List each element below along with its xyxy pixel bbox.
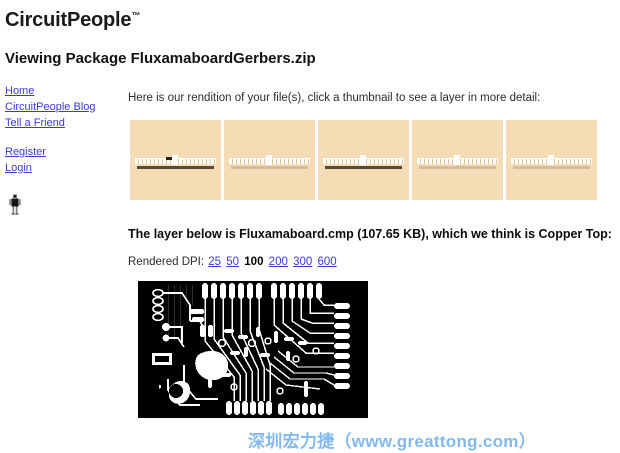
thumbnail-notch (172, 155, 178, 165)
sidebar-item-blog[interactable]: CircuitPeople Blog (5, 100, 120, 115)
dpi-option-200[interactable]: 200 (269, 256, 288, 268)
sidebar-item-tell-a-friend[interactable]: Tell a Friend (5, 116, 120, 131)
thumbnail-underlay (231, 166, 307, 169)
dpi-option-300[interactable]: 300 (293, 256, 312, 268)
page-title: Viewing Package FluxamaboardGerbers.zip (5, 50, 316, 67)
sidebar-item-login[interactable]: Login (5, 161, 120, 176)
thumbnail-notch (266, 155, 272, 165)
person-figure-icon (8, 194, 22, 216)
thumbnail-notch (548, 155, 554, 165)
brand-name: CircuitPeople (5, 9, 131, 31)
sidebar-item-home[interactable]: Home (5, 84, 120, 99)
layer-caption: The layer below is Fluxamaboard.cmp (107… (128, 227, 612, 241)
thumbnail-underlay (419, 166, 495, 169)
layer-thumbnail-3[interactable] (318, 120, 409, 200)
thumbnail-underlay (325, 166, 401, 169)
sidebar-nav: Home CircuitPeople Blog Tell a Friend Re… (5, 84, 120, 216)
pcb-layer-image[interactable] (138, 281, 368, 418)
intro-text: Here is our rendition of your file(s), c… (128, 92, 540, 104)
layer-thumbnail-strip (130, 120, 597, 200)
watermark-text: 深圳宏力捷（www.greattong.com） (248, 427, 536, 452)
dpi-option-600[interactable]: 600 (317, 256, 336, 268)
sidebar-item-register[interactable]: Register (5, 145, 120, 160)
sidebar-divider-gap (5, 132, 120, 145)
layer-thumbnail-5[interactable] (506, 120, 597, 200)
site-title: CircuitPeople™ (5, 9, 140, 32)
dpi-selector: Rendered DPI: 25 50 100 200 300 600 (128, 256, 338, 268)
layer-thumbnail-4[interactable] (412, 120, 503, 200)
trademark-symbol: ™ (131, 10, 140, 20)
dpi-label: Rendered DPI: (128, 256, 204, 268)
dpi-option-100-selected[interactable]: 100 (244, 256, 263, 268)
layer-thumbnail-2[interactable] (224, 120, 315, 200)
thumbnail-underlay (137, 166, 213, 169)
thumbnail-underlay (513, 166, 589, 169)
thumbnail-notch (454, 155, 460, 165)
dpi-option-25[interactable]: 25 (208, 256, 221, 268)
thumbnail-notch (360, 155, 366, 165)
dpi-option-50[interactable]: 50 (226, 256, 239, 268)
layer-thumbnail-1[interactable] (130, 120, 221, 200)
